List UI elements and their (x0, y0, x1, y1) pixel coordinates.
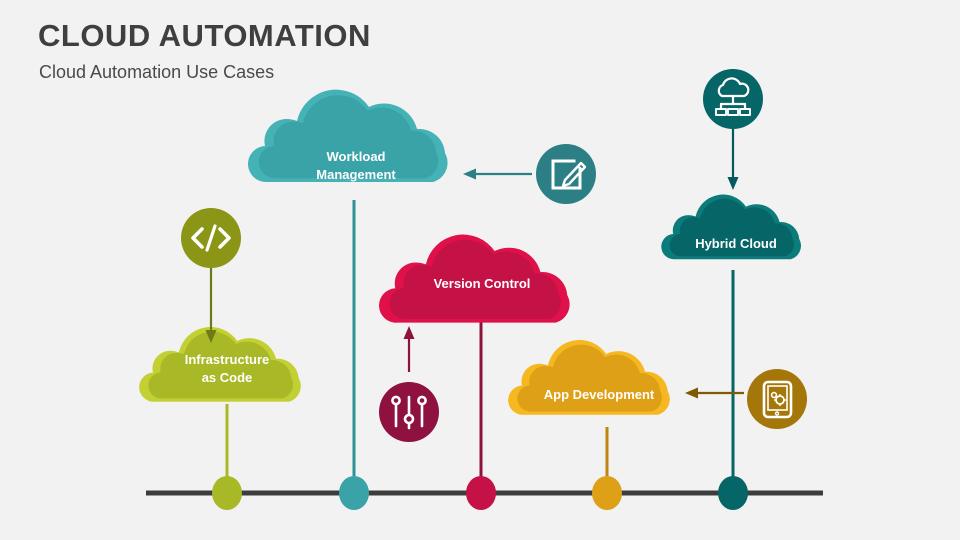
icon-badge-edit[interactable] (536, 144, 596, 204)
cloud-app-development[interactable] (508, 340, 670, 415)
cloud-hybrid-cloud[interactable] (661, 195, 801, 260)
baseline-dot-hybrid-cloud[interactable] (718, 476, 748, 510)
arrow-network-to-hybrid-cloud (728, 128, 739, 190)
baseline-dot-workload[interactable] (339, 476, 369, 510)
icon-badge-cloud-network[interactable] (703, 69, 763, 129)
icon-badge-tablet[interactable] (747, 369, 807, 429)
arrow-sliders-to-version-control (404, 326, 415, 372)
arrow-code-to-infrastructure (206, 268, 217, 343)
cloud-infrastructure-as-code[interactable] (139, 327, 301, 402)
icon-badge-sliders[interactable] (379, 382, 439, 442)
arrow-tablet-to-app-development (685, 388, 744, 399)
baseline-dot-infrastructure[interactable] (212, 476, 242, 510)
cloud-automation-diagram (0, 0, 960, 540)
baseline-dot-app-development[interactable] (592, 476, 622, 510)
slide-canvas: CLOUD AUTOMATION Cloud Automation Use Ca… (0, 0, 960, 540)
cloud-workload-management[interactable] (248, 90, 448, 182)
edit-square-icon-circle (536, 144, 596, 204)
baseline-dot-version-control[interactable] (466, 476, 496, 510)
icon-badge-code[interactable] (181, 208, 241, 268)
cloud-version-control[interactable] (379, 235, 570, 323)
arrow-edit-to-workload (463, 169, 532, 180)
